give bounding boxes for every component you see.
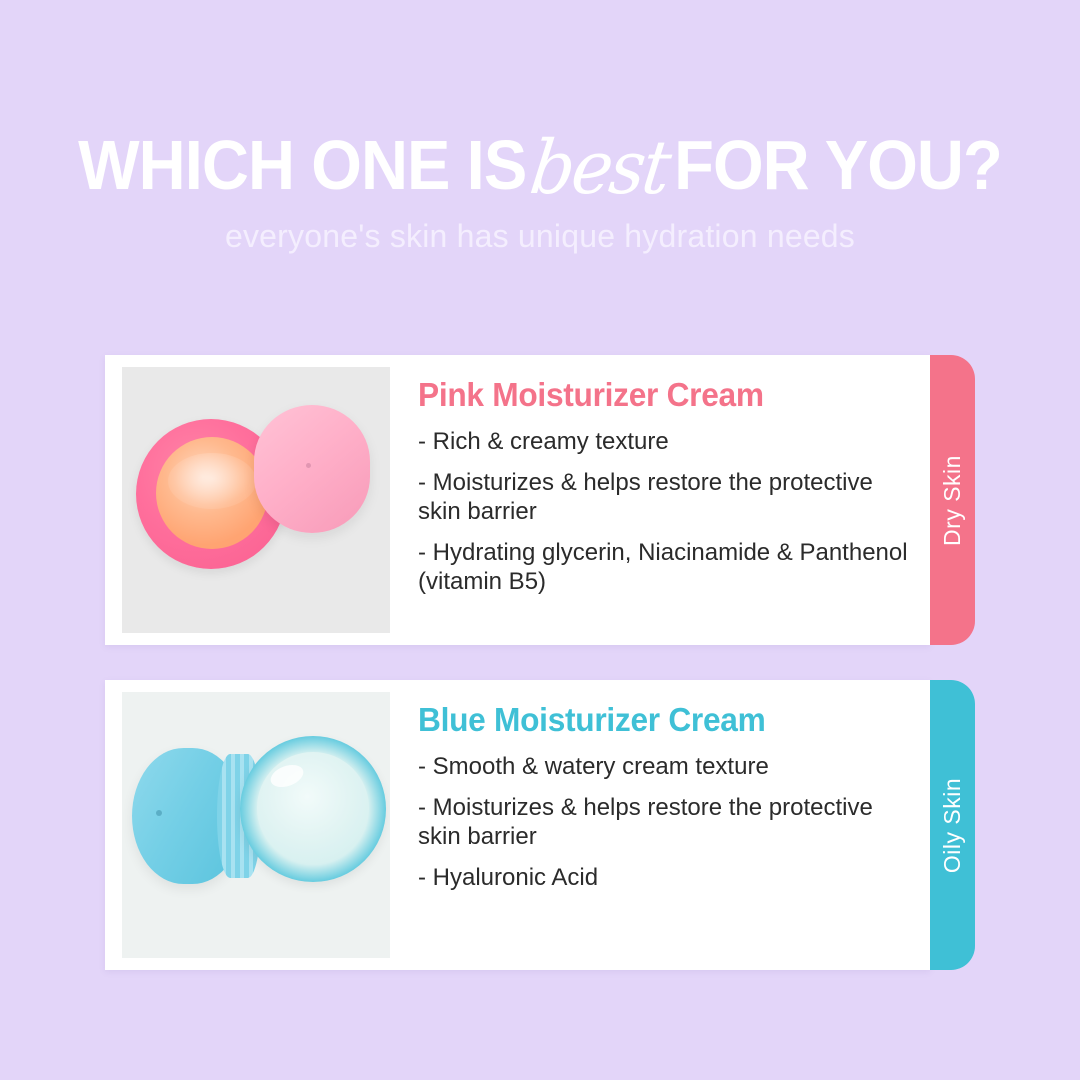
skin-type-tab-label-dry: Dry Skin — [939, 455, 966, 546]
page-header: WHICH ONE ISbestFOR YOU? everyone's skin… — [0, 0, 1080, 255]
product-feature-list-blue: - Smooth & watery cream texture - Moistu… — [418, 752, 908, 892]
skin-type-tab-oily[interactable]: Oily Skin — [930, 680, 975, 970]
product-card-pink[interactable]: Pink Moisturizer Cream - Rich & creamy t… — [105, 355, 930, 645]
list-item: - Moisturizes & helps restore the protec… — [418, 793, 908, 851]
pink-cream-swirl-icon — [168, 453, 256, 509]
page-title: WHICH ONE ISbestFOR YOU? — [38, 0, 1042, 201]
blue-gel-icon — [257, 752, 369, 864]
product-title-blue: Blue Moisturizer Cream — [418, 702, 888, 738]
list-item: - Smooth & watery cream texture — [418, 752, 908, 781]
list-item: - Hydrating glycerin, Niacinamide & Pant… — [418, 538, 908, 596]
list-item: - Rich & creamy texture — [418, 427, 908, 456]
headline-part-before: WHICH ONE IS — [78, 126, 526, 204]
product-details-pink: Pink Moisturizer Cream - Rich & creamy t… — [390, 355, 930, 596]
pink-jar-lid-icon — [254, 405, 370, 533]
headline-part-after: FOR YOU? — [674, 126, 1002, 204]
headline-script-word: best — [521, 132, 678, 204]
product-title-pink: Pink Moisturizer Cream — [418, 377, 888, 413]
product-image-blue — [122, 692, 390, 958]
skin-type-tab-dry[interactable]: Dry Skin — [930, 355, 975, 645]
product-image-pink — [122, 367, 390, 633]
list-item: - Hyaluronic Acid — [418, 863, 908, 892]
product-feature-list-pink: - Rich & creamy texture - Moisturizes & … — [418, 427, 908, 596]
product-details-blue: Blue Moisturizer Cream - Smooth & watery… — [390, 680, 930, 892]
list-item: - Moisturizes & helps restore the protec… — [418, 468, 908, 526]
product-card-blue[interactable]: Blue Moisturizer Cream - Smooth & watery… — [105, 680, 930, 970]
skin-type-tab-label-oily: Oily Skin — [939, 777, 966, 872]
page-subtitle: everyone's skin has unique hydration nee… — [0, 201, 1080, 255]
